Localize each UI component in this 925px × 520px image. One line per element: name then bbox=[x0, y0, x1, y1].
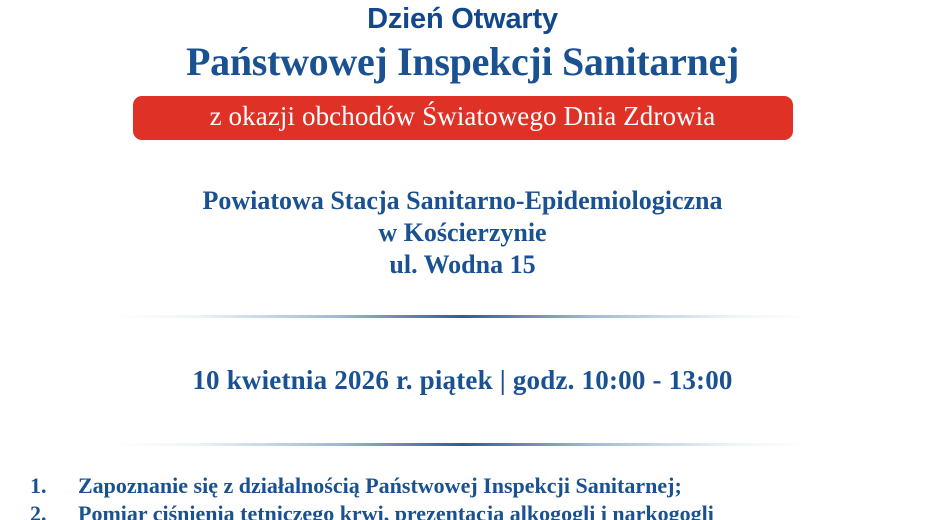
venue-address-block: Powiatowa Stacja Sanitarno-Epidemiologic… bbox=[0, 185, 925, 281]
agenda-item-number: 2. bbox=[30, 500, 78, 520]
divider-top bbox=[113, 315, 813, 318]
venue-street: ul. Wodna 15 bbox=[0, 249, 925, 281]
poster-title-primary: Dzień Otwarty bbox=[0, 2, 925, 36]
agenda-item-number: 1. bbox=[30, 472, 78, 500]
agenda-item-text: Pomiar ciśnienia tętniczego krwi, prezen… bbox=[78, 500, 925, 520]
agenda-item: 2. Pomiar ciśnienia tętniczego krwi, pre… bbox=[0, 500, 925, 520]
agenda-item-text: Zapoznanie się z działalnością Państwowe… bbox=[78, 472, 925, 500]
title-block: Dzień Otwarty Państwowej Inspekcji Sanit… bbox=[0, 0, 925, 86]
poster-page: Dzień Otwarty Państwowej Inspekcji Sanit… bbox=[0, 0, 925, 520]
venue-institution-name: Powiatowa Stacja Sanitarno-Epidemiologic… bbox=[0, 185, 925, 217]
agenda-item: 1. Zapoznanie się z działalnością Państw… bbox=[0, 472, 925, 500]
poster-title-secondary: Państwowej Inspekcji Sanitarnej bbox=[0, 38, 925, 86]
ribbon-container: z okazji obchodów Światowego Dnia Zdrowi… bbox=[0, 96, 925, 140]
event-date-time: 10 kwietnia 2026 r. piątek | godz. 10:00… bbox=[0, 364, 925, 396]
agenda-list: 1. Zapoznanie się z działalnością Państw… bbox=[0, 472, 925, 520]
occasion-ribbon: z okazji obchodów Światowego Dnia Zdrowi… bbox=[133, 96, 793, 140]
venue-city: w Kościerzynie bbox=[0, 217, 925, 249]
divider-bottom bbox=[113, 443, 813, 446]
